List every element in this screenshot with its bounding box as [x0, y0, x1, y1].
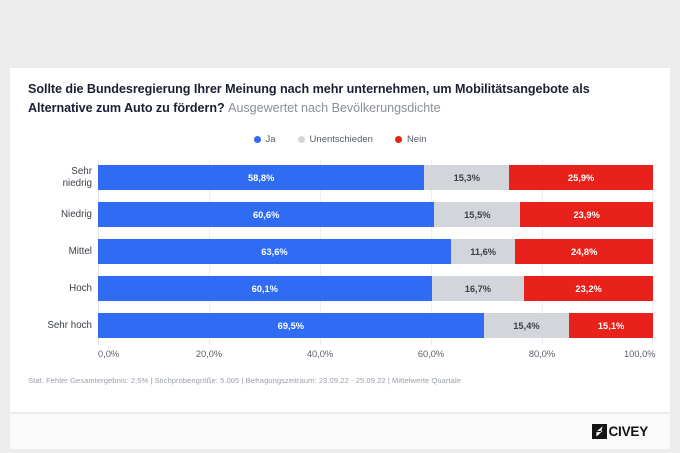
bar-row: 58,8%15,3%25,9% — [98, 165, 653, 190]
bar-row: 60,1%16,7%23,2% — [98, 276, 653, 301]
x-tick-label: 0,0% — [98, 349, 119, 359]
category-label: Sehr hoch — [26, 320, 92, 332]
question-subtitle: Ausgewertet nach Bevölkerungsdichte — [228, 101, 440, 115]
category-label: Hoch — [26, 283, 92, 295]
legend-label: Nein — [407, 134, 427, 145]
x-tick-label: 100,0% — [624, 349, 656, 359]
bar-segment[interactable]: 23,2% — [524, 276, 653, 301]
bar-segment[interactable]: 24,8% — [515, 239, 653, 264]
bar-row: 60,6%15,5%23,9% — [98, 202, 653, 227]
bar-segment[interactable]: 63,6% — [98, 239, 451, 264]
value-axis: 0,0%20,0%40,0%60,0%80,0%100,0% — [98, 349, 653, 365]
chart-plot-area: SehrniedrigNiedrigMittelHochSehr hoch 58… — [28, 160, 653, 345]
bar-segment[interactable]: 23,9% — [520, 202, 653, 227]
civey-chevron-mark-icon — [592, 424, 607, 439]
legend-swatch-icon — [298, 136, 305, 143]
x-tick-label: 80,0% — [529, 349, 555, 359]
bar-segment[interactable]: 60,1% — [98, 276, 432, 301]
screenshot-root: Sollte die Bundesregierung Ihrer Meinung… — [0, 0, 680, 453]
bar-segment[interactable]: 15,4% — [484, 313, 569, 338]
bar-segment[interactable]: 69,5% — [98, 313, 484, 338]
legend-swatch-icon — [395, 136, 402, 143]
legend-item[interactable]: Ja — [254, 134, 276, 145]
bar-segment[interactable]: 15,5% — [434, 202, 520, 227]
legend-swatch-icon — [254, 136, 261, 143]
legend-item[interactable]: Nein — [395, 134, 427, 145]
bar-row: 63,6%11,6%24,8% — [98, 239, 653, 264]
bar-segment[interactable]: 58,8% — [98, 165, 424, 190]
legend-label: Ja — [266, 134, 276, 145]
bar-segment[interactable]: 60,6% — [98, 202, 434, 227]
bar-segment[interactable]: 15,3% — [424, 165, 509, 190]
bar-segment[interactable]: 15,1% — [569, 313, 653, 338]
bar-segment[interactable]: 16,7% — [432, 276, 525, 301]
category-axis: SehrniedrigNiedrigMittelHochSehr hoch — [28, 160, 98, 345]
bars-grid: 58,8%15,3%25,9%60,6%15,5%23,9%63,6%11,6%… — [98, 160, 653, 345]
x-tick-label: 60,0% — [418, 349, 444, 359]
chart-card: Sollte die Bundesregierung Ihrer Meinung… — [10, 68, 670, 412]
category-label: Sehrniedrig — [26, 166, 92, 189]
chart-legend: JaUnentschiedenNein — [10, 134, 670, 145]
bar-row: 69,5%15,4%15,1% — [98, 313, 653, 338]
chart-footnote: Stat. Fehler Gesamtergebnis: 2,5% | Stic… — [28, 376, 461, 385]
civey-wordmark: CIVEY — [608, 424, 648, 439]
legend-item[interactable]: Unentschieden — [298, 134, 373, 145]
x-tick-label: 40,0% — [307, 349, 333, 359]
category-label: Mittel — [26, 246, 92, 258]
x-tick-label: 20,0% — [196, 349, 222, 359]
civey-logo: CIVEY — [592, 424, 648, 439]
bar-segment[interactable]: 11,6% — [451, 239, 515, 264]
category-label: Niedrig — [26, 209, 92, 221]
bar-segment[interactable]: 25,9% — [509, 165, 653, 190]
brand-bar: CIVEY — [10, 414, 670, 449]
page-title: Sollte die Bundesregierung Ihrer Meinung… — [28, 80, 652, 118]
legend-label: Unentschieden — [310, 134, 373, 145]
